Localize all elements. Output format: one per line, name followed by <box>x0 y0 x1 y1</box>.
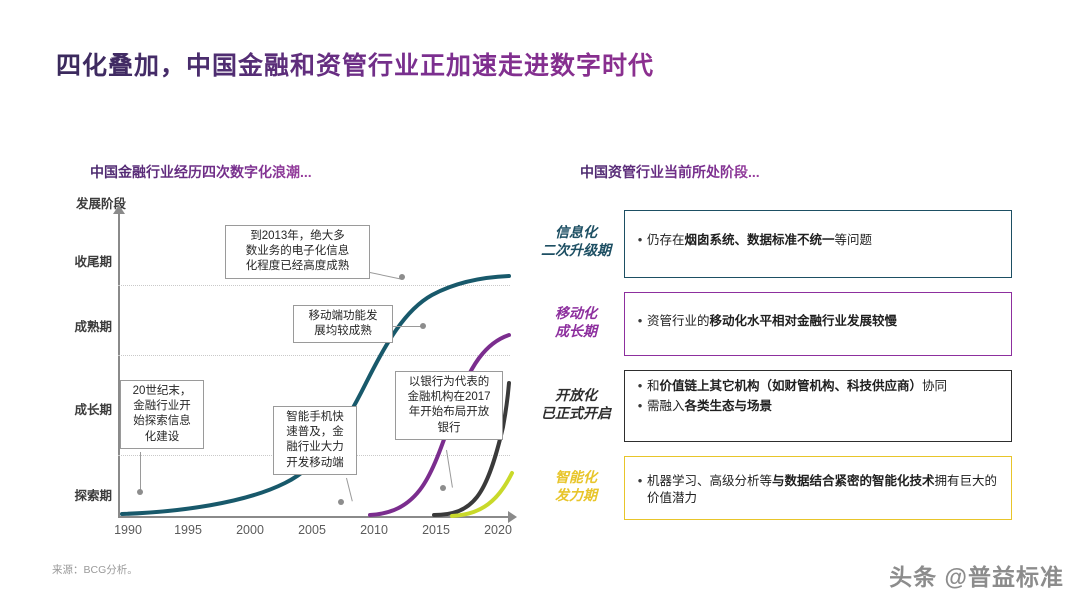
watermark: 头条 @普益标准 <box>889 558 1064 592</box>
stage-label-line1: 信息化 <box>555 224 597 240</box>
annotation-leader <box>140 452 141 492</box>
stage-label-line1: 开放化 <box>555 387 597 403</box>
stage-box-intelligence: • 机器学习、高级分析等与数据结合紧密的智能化技术拥有巨大的价值潜力 <box>624 456 1012 520</box>
annotation-line: 20世纪末， <box>126 384 198 399</box>
bullet-item: • 资管行业的移动化水平相对金融行业发展较慢 <box>633 313 1001 330</box>
digital-waves-chart: 发展阶段 收尾期 成熟期 成长期 探索期 1990 1995 2000 2005… <box>60 195 520 540</box>
slide-root: 四化叠加，中国金融和资管行业正加速走进数字时代 中国金融行业经历四次数字化浪潮.… <box>0 0 1080 608</box>
bullet-dot-icon: • <box>633 313 647 330</box>
annotation-line: 数业务的电子化信息 <box>231 244 364 259</box>
annotation-dot <box>440 485 446 491</box>
bullet-text: 需融入各类生态与场景 <box>647 398 1001 415</box>
annotation-line: 始探索信息 <box>126 414 198 429</box>
stage-label-line2: 发力期 <box>555 487 597 503</box>
stage-row-opening: 开放化 已正式开启 • 和价值链上其它机构（如财管机构、科技供应商）协同 • 需… <box>532 370 1012 448</box>
stage-label-opening: 开放化 已正式开启 <box>532 387 620 422</box>
annotation-openbank: 以银行为代表的 金融机构在2017 年开始布局开放 银行 <box>395 371 503 440</box>
left-section-title: 中国金融行业经历四次数字化浪潮... <box>90 162 312 182</box>
annotation-line: 开发移动端 <box>279 456 351 471</box>
annotation-line: 展均较成熟 <box>299 324 387 339</box>
annotation-dot <box>399 274 405 280</box>
stage-row-mobilization: 移动化 成长期 • 资管行业的移动化水平相对金融行业发展较慢 <box>532 292 1012 362</box>
bullet-dot-icon: • <box>633 378 647 395</box>
annotation-line: 年开始布局开放 <box>401 405 497 420</box>
stage-box-informatization: • 仍存在烟囱系统、数据标准不统一等问题 <box>624 210 1012 278</box>
bullet-dot-icon: • <box>633 473 647 490</box>
bullet-dot-icon: • <box>633 232 647 249</box>
annotation-line: 化建设 <box>126 430 198 445</box>
bullet-item: • 仍存在烟囱系统、数据标准不统一等问题 <box>633 232 1001 249</box>
annotation-smartphone: 智能手机快 速普及，金 融行业大力 开发移动端 <box>273 406 357 475</box>
stage-box-mobilization: • 资管行业的移动化水平相对金融行业发展较慢 <box>624 292 1012 356</box>
bullet-text: 仍存在烟囱系统、数据标准不统一等问题 <box>647 232 1001 249</box>
bullet-text: 和价值链上其它机构（如财管机构、科技供应商）协同 <box>647 378 1001 395</box>
stage-label-line2: 已正式开启 <box>541 405 611 421</box>
annotation-dot <box>137 489 143 495</box>
stage-label-line2: 成长期 <box>555 323 597 339</box>
annotation-line: 到2013年，绝大多 <box>231 229 364 244</box>
annotation-line: 化程度已经高度成熟 <box>231 259 364 274</box>
annotation-leader <box>393 326 422 327</box>
stage-label-mobilization: 移动化 成长期 <box>532 305 620 340</box>
annotation-line: 移动端功能发 <box>299 309 387 324</box>
annotation-2013: 到2013年，绝大多 数业务的电子化信息 化程度已经高度成熟 <box>225 225 370 279</box>
stage-label-informatization: 信息化 二次升级期 <box>532 224 620 259</box>
annotation-dot <box>338 499 344 505</box>
annotation-line: 银行 <box>401 421 497 436</box>
annotation-line: 融行业大力 <box>279 440 351 455</box>
annotation-line: 速普及，金 <box>279 425 351 440</box>
stage-box-opening: • 和价值链上其它机构（如财管机构、科技供应商）协同 • 需融入各类生态与场景 <box>624 370 1012 442</box>
annotation-mobile-mature: 移动端功能发 展均较成熟 <box>293 305 393 343</box>
stage-label-line1: 智能化 <box>555 469 597 485</box>
stage-row-informatization: 信息化 二次升级期 • 仍存在烟囱系统、数据标准不统一等问题 <box>532 210 1012 284</box>
annotation-line: 以银行为代表的 <box>401 375 497 390</box>
source-note: 来源：BCG分析。 <box>52 562 138 577</box>
bullet-dot-icon: • <box>633 398 647 415</box>
bullet-text: 资管行业的移动化水平相对金融行业发展较慢 <box>647 313 1001 330</box>
bullet-item: • 需融入各类生态与场景 <box>633 398 1001 415</box>
right-section-title: 中国资管行业当前所处阶段... <box>580 162 760 182</box>
annotation-line: 金融行业开 <box>126 399 198 414</box>
stage-label-intelligence: 智能化 发力期 <box>532 469 620 504</box>
annotation-line: 智能手机快 <box>279 410 351 425</box>
page-title: 四化叠加，中国金融和资管行业正加速走进数字时代 <box>56 46 654 82</box>
stage-label-line1: 移动化 <box>555 305 597 321</box>
stage-label-line2: 二次升级期 <box>541 242 611 258</box>
annotation-1990s: 20世纪末， 金融行业开 始探索信息 化建设 <box>120 380 204 449</box>
bullet-item: • 和价值链上其它机构（如财管机构、科技供应商）协同 <box>633 378 1001 395</box>
annotation-line: 金融机构在2017 <box>401 390 497 405</box>
bullet-text: 机器学习、高级分析等与数据结合紧密的智能化技术拥有巨大的价值潜力 <box>647 473 1001 508</box>
bullet-item: • 机器学习、高级分析等与数据结合紧密的智能化技术拥有巨大的价值潜力 <box>633 473 1001 508</box>
annotation-dot <box>420 323 426 329</box>
stage-row-intelligence: 智能化 发力期 • 机器学习、高级分析等与数据结合紧密的智能化技术拥有巨大的价值… <box>532 456 1012 526</box>
